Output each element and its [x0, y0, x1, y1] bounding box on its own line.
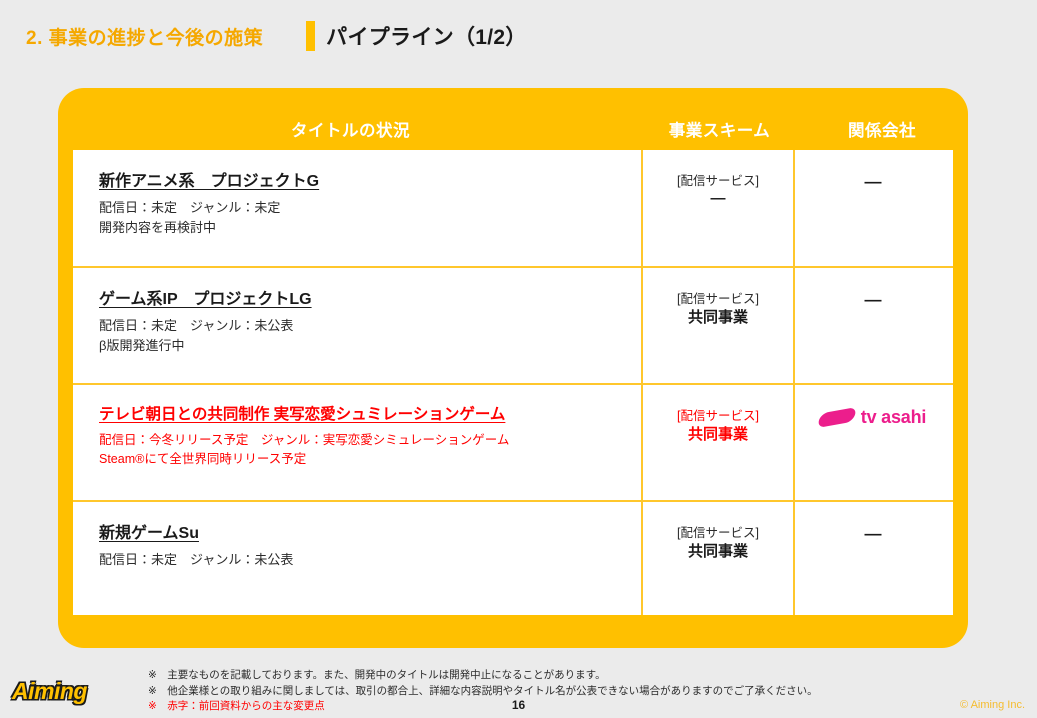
scheme-service-label: [配信サービス] — [677, 290, 759, 308]
cell-business-scheme: [配信サービス] 共同事業 — [643, 385, 795, 500]
company-value: — — [865, 290, 882, 310]
cell-related-company: — — [795, 502, 951, 615]
scheme-value: 共同事業 — [688, 542, 748, 562]
slide-header: 2. 事業の進捗と今後の施策 パイプライン（1/2） — [0, 0, 1037, 72]
project-detail: 開発内容を再検討中 — [99, 218, 641, 238]
table-body: 新作アニメ系 プロジェクトG 配信日：未定 ジャンル：未定 開発内容を再検討中 … — [73, 150, 953, 615]
copyright-notice: © Aiming Inc. — [960, 699, 1025, 711]
column-header-status: タイトルの状況 — [58, 117, 643, 150]
cell-related-company: — — [795, 268, 951, 383]
project-title: ゲーム系IP プロジェクトLG — [99, 285, 641, 309]
scheme-value: 共同事業 — [688, 425, 748, 445]
scheme-service-label: [配信サービス] — [677, 524, 759, 542]
tv-asahi-swoosh-icon — [817, 407, 857, 428]
column-header-company: 関係会社 — [796, 117, 968, 150]
scheme-service-label: [配信サービス] — [677, 172, 759, 190]
project-detail: β版開発進行中 — [99, 336, 641, 356]
page-number: 16 — [0, 698, 1037, 712]
scheme-value: — — [711, 190, 726, 208]
project-detail: 配信日：今冬リリース予定 ジャンル：実写恋愛シミュレーションゲーム — [99, 431, 641, 450]
table-row: 新作アニメ系 プロジェクトG 配信日：未定 ジャンル：未定 開発内容を再検討中 … — [73, 150, 953, 268]
project-detail: 配信日：未定 ジャンル：未公表 — [99, 316, 641, 336]
cell-business-scheme: [配信サービス] 共同事業 — [643, 268, 795, 383]
table-row: テレビ朝日との共同制作 実写恋愛シュミレーションゲーム 配信日：今冬リリース予定… — [73, 385, 953, 502]
project-detail: 配信日：未定 ジャンル：未公表 — [99, 550, 641, 570]
project-title: 新作アニメ系 プロジェクトG — [99, 167, 641, 191]
title-accent-bar — [306, 21, 315, 51]
project-detail: 配信日：未定 ジャンル：未定 — [99, 198, 641, 218]
tv-asahi-logo: tv asahi — [820, 407, 926, 428]
table-row: 新規ゲームSu 配信日：未定 ジャンル：未公表 [配信サービス] 共同事業 — — [73, 502, 953, 615]
column-header-scheme: 事業スキーム — [643, 117, 796, 150]
company-value: tv asahi — [861, 407, 926, 428]
footnote-item: ※ 主要なものを記載しております。また、開発中のタイトルは開発中止になることがあ… — [148, 668, 908, 684]
aiming-logo: Aiming — [12, 678, 87, 705]
table-row: ゲーム系IP プロジェクトLG 配信日：未定 ジャンル：未公表 β版開発進行中 … — [73, 268, 953, 385]
scheme-value: 共同事業 — [688, 308, 748, 328]
company-value: — — [865, 172, 882, 192]
scheme-service-label: [配信サービス] — [677, 407, 759, 425]
company-value: — — [865, 524, 882, 544]
cell-title-status: ゲーム系IP プロジェクトLG 配信日：未定 ジャンル：未公表 β版開発進行中 — [73, 268, 643, 383]
project-title: 新規ゲームSu — [99, 519, 641, 543]
project-title: テレビ朝日との共同制作 実写恋愛シュミレーションゲーム — [99, 402, 641, 424]
cell-related-company: — — [795, 150, 951, 266]
cell-title-status: テレビ朝日との共同制作 実写恋愛シュミレーションゲーム 配信日：今冬リリース予定… — [73, 385, 643, 500]
table-header-row: タイトルの状況 事業スキーム 関係会社 — [58, 88, 968, 150]
page-title: パイプライン（1/2） — [326, 21, 527, 51]
footnote-item: ※ 他企業様との取り組みに関しましては、取引の都合上、詳細な内容説明やタイトル名… — [148, 684, 908, 700]
cell-business-scheme: [配信サービス] — — [643, 150, 795, 266]
cell-related-company: tv asahi — [795, 385, 951, 500]
cell-title-status: 新規ゲームSu 配信日：未定 ジャンル：未公表 — [73, 502, 643, 615]
title-group: パイプライン（1/2） — [306, 21, 527, 51]
cell-business-scheme: [配信サービス] 共同事業 — [643, 502, 795, 615]
pipeline-table-card: タイトルの状況 事業スキーム 関係会社 新作アニメ系 プロジェクトG 配信日：未… — [58, 88, 968, 648]
section-label: 2. 事業の進捗と今後の施策 — [26, 23, 263, 50]
cell-title-status: 新作アニメ系 プロジェクトG 配信日：未定 ジャンル：未定 開発内容を再検討中 — [73, 150, 643, 266]
project-detail: Steam®にて全世界同時リリース予定 — [99, 450, 641, 469]
